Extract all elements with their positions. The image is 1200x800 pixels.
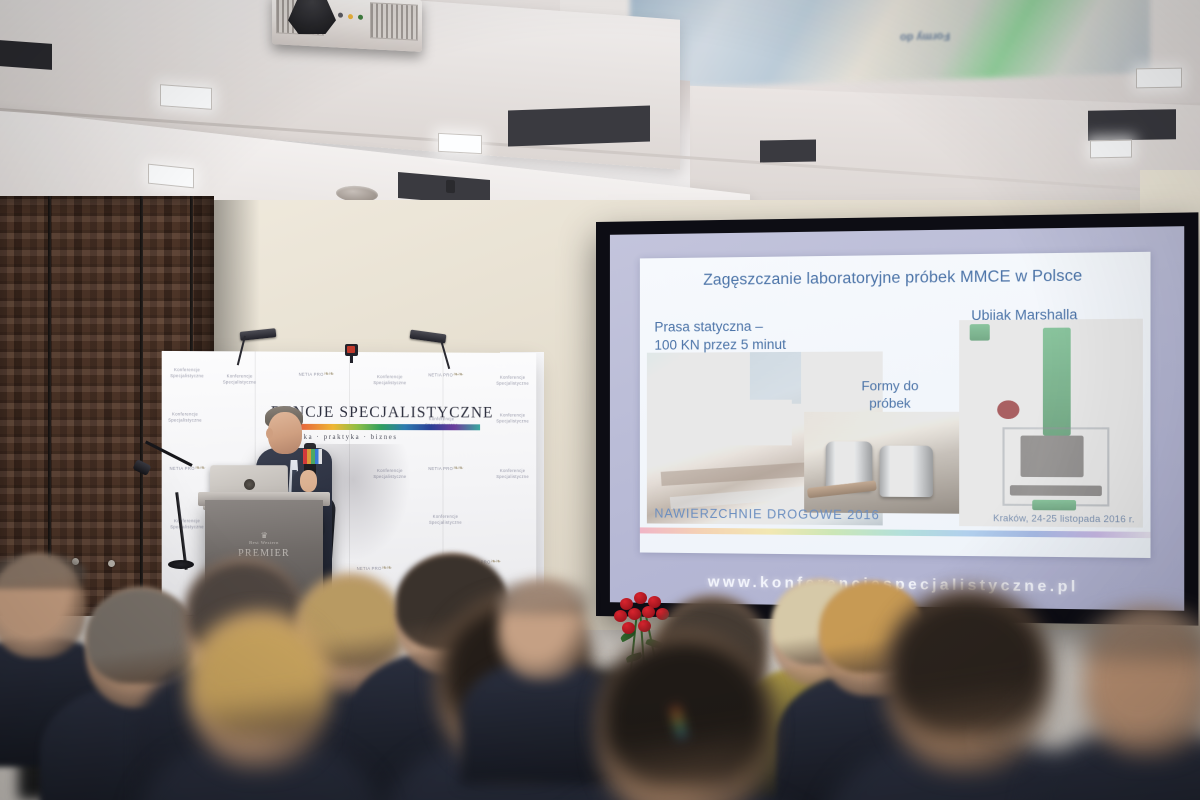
microphone-flag <box>303 449 322 464</box>
backdrop-sponsor-logo: Konferencje Specjalistyczne <box>492 468 533 481</box>
projector-vent <box>370 2 418 41</box>
ceiling-vent <box>508 106 650 147</box>
speaker-head <box>268 412 302 454</box>
audience <box>0 520 1200 800</box>
projector-mount <box>288 0 336 34</box>
emergency-stop-button <box>997 401 1019 420</box>
backdrop-tagline: nauka · praktyka · biznes <box>289 434 478 441</box>
head-11-hair <box>888 592 1048 736</box>
backdrop-sponsor-logo: NETIA PRO❧❧ <box>425 370 467 381</box>
head-14-hair <box>600 636 770 788</box>
presentation-slide: Zagęszczanie laboratoryjne próbek MMCE w… <box>640 252 1151 559</box>
backdrop-sponsor-logo: Konferencje Specjalistyczne <box>218 373 260 386</box>
projector-led <box>348 14 353 19</box>
ceiling-vent <box>760 140 816 163</box>
slide-label-molds: Formy do próbek <box>819 378 962 413</box>
backdrop-sponsor-logo: Konferencje Specjalistyczne <box>369 374 411 387</box>
head-13-hair <box>498 580 588 614</box>
ceiling-light <box>1090 140 1132 159</box>
backdrop-sponsor-logo: Konferencje Specjalistyczne <box>492 375 533 388</box>
ceiling-light <box>438 133 482 154</box>
photo-marshall-compactor <box>959 319 1142 528</box>
head-2-hair <box>86 588 196 684</box>
projector-led <box>358 15 363 20</box>
conference-photo: Formy do Zag <box>0 0 1200 800</box>
speaker-hand <box>300 470 317 492</box>
projector-led <box>338 13 343 18</box>
banner-camera-stand <box>350 355 353 363</box>
press-part <box>749 352 801 404</box>
ceiling-vent <box>0 40 52 70</box>
backdrop-sponsor-logo: NETIA PRO❧❧ <box>295 370 337 381</box>
speaker-ear <box>266 428 273 439</box>
backdrop-sponsor-logo: Konferencje Specjalistyczne <box>166 367 209 380</box>
head-1-hair <box>0 554 86 589</box>
press-part <box>679 356 709 432</box>
head-7-hair <box>192 616 328 738</box>
press-part <box>712 400 792 445</box>
molds-label-line1: Formy do <box>819 378 962 396</box>
compactor-base <box>1010 485 1102 496</box>
ceiling-light <box>1136 68 1182 89</box>
dell-logo-icon <box>243 479 254 490</box>
backdrop-rainbow-bar <box>281 424 480 430</box>
backdrop-sponsor-logo: NETIA PRO❧❧ <box>425 464 467 474</box>
compactor-panel <box>970 324 990 341</box>
backdrop-title: RENCJE SPECJALISTYCZNE <box>271 404 536 423</box>
press-label-line1: Prasa statyczna – <box>654 317 874 336</box>
ceiling-sensor <box>446 180 455 193</box>
backdrop-sponsor-logo: Konferencje Specjalistyczne <box>164 411 207 424</box>
slide-label-press: Prasa statyczna – 100 KN przez 5 minut <box>654 317 874 354</box>
ceiling-vent <box>1088 109 1176 141</box>
slide-title: Zagęszczanie laboratoryjne próbek MMCE w… <box>659 266 1129 292</box>
backdrop-sponsor-logo: NETIA PRO❧❧ <box>166 464 209 475</box>
ceiling-light <box>160 84 212 110</box>
mold-cylinder <box>879 446 933 497</box>
compactor-column <box>1043 328 1071 436</box>
head-12-hair <box>1084 610 1200 660</box>
compactor-hammer <box>1021 436 1083 478</box>
molds-label-line2: próbek <box>819 395 962 412</box>
